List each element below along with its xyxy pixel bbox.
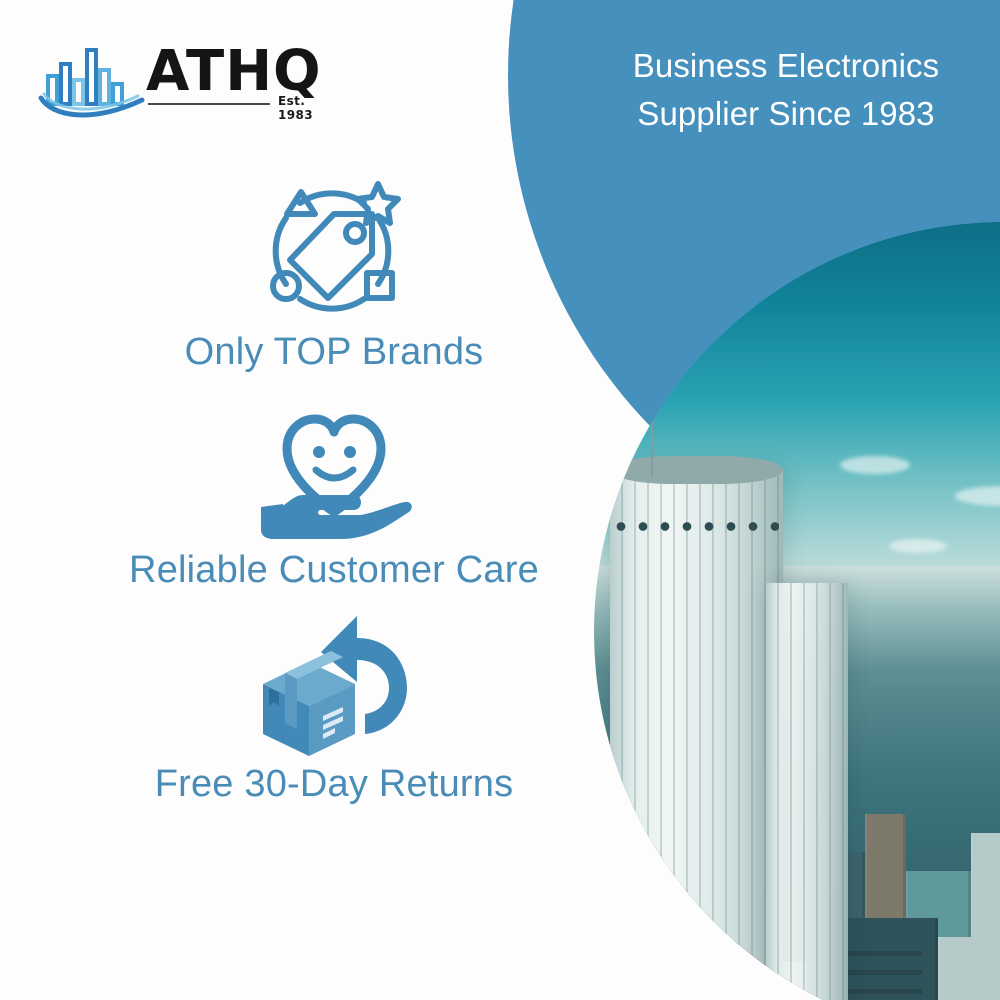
secondary-tower (766, 583, 848, 1000)
logo-athq-text: ATHQ (146, 44, 322, 100)
feature-list: Only TOP Brands Reliable Customer Ca (0, 176, 668, 805)
brand-logo[interactable]: ATHQ Est. 1983 (38, 38, 338, 122)
logo-wordmark: ATHQ Est. 1983 (146, 44, 338, 118)
logo-established-text: Est. 1983 (278, 94, 338, 122)
feature-label-returns: Free 30-Day Returns (0, 764, 668, 806)
feature-item-returns: Free 30-Day Returns (0, 608, 668, 806)
return-box-arrow-icon (0, 608, 668, 758)
feature-item-brands: Only TOP Brands (0, 176, 668, 374)
bar-chart-buildings-swoosh-icon (38, 40, 146, 120)
feature-label-brands: Only TOP Brands (0, 332, 668, 374)
header-line-1: Business Electronics (586, 42, 986, 90)
hand-holding-smiling-heart-icon (0, 394, 668, 544)
header-tagline: Business Electronics Supplier Since 1983 (586, 42, 986, 137)
feature-item-care: Reliable Customer Care (0, 394, 668, 592)
promo-graphic-canvas: Business Electronics Supplier Since 1983… (0, 0, 1000, 1000)
logo-underline (148, 103, 270, 105)
feature-label-care: Reliable Customer Care (0, 550, 668, 592)
price-tag-shapes-icon (0, 176, 668, 326)
header-line-2: Supplier Since 1983 (586, 90, 986, 138)
